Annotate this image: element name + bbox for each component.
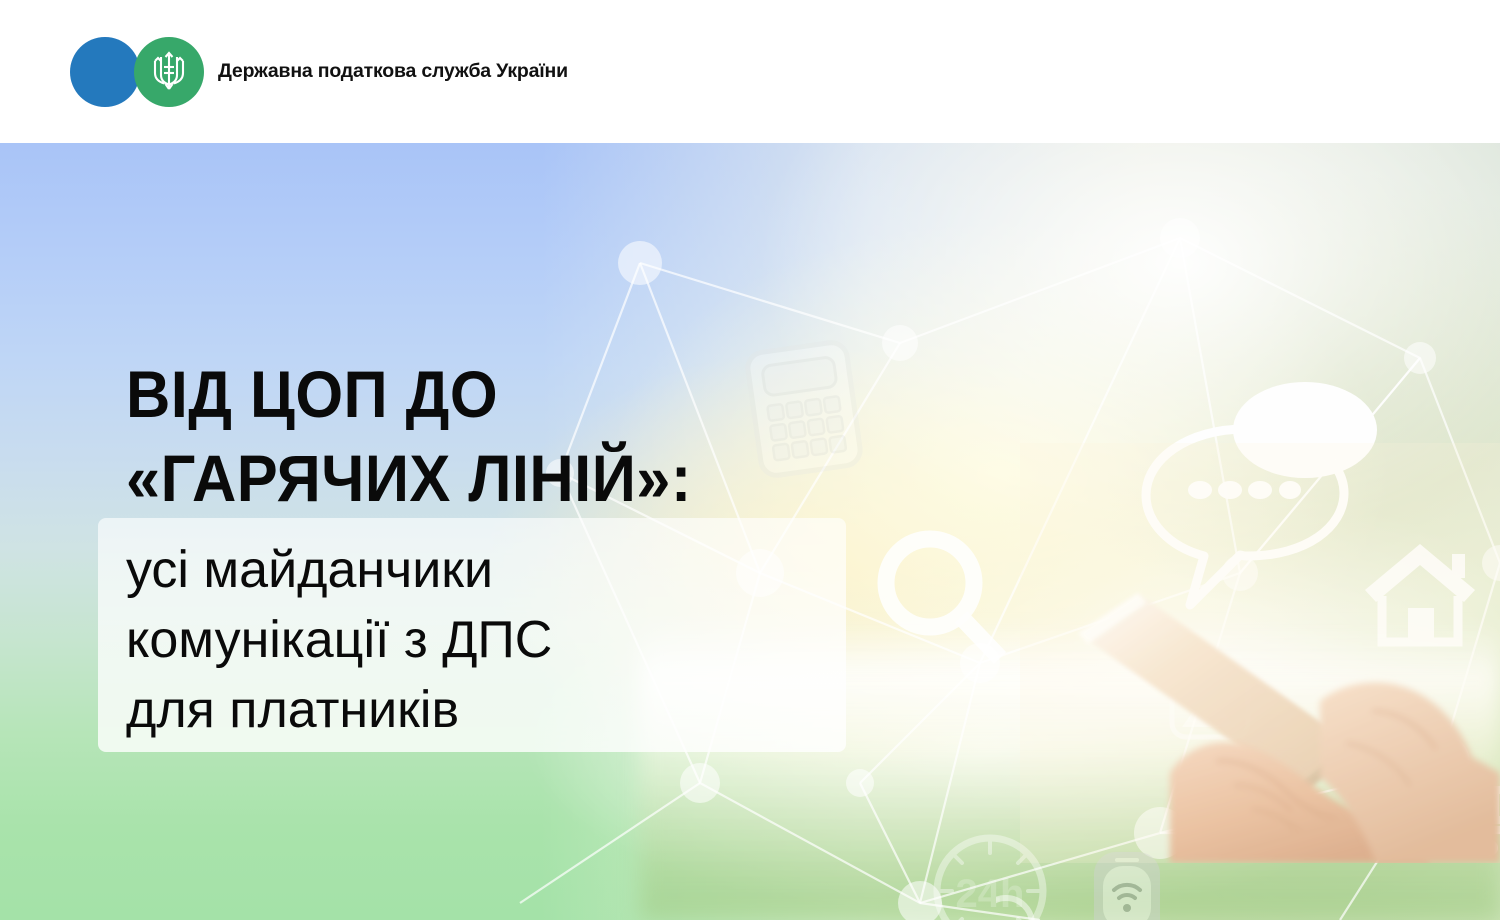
logo-marks — [70, 37, 204, 107]
page-header: Державна податкова служба України — [0, 0, 1500, 143]
hand-holding-smartphone — [1020, 443, 1500, 863]
badge-edge-icon — [996, 878, 1056, 920]
logo-blue-circle — [70, 37, 140, 107]
banner-stage: 24h — [0, 0, 1500, 920]
calculator-icon — [739, 336, 868, 482]
dps-logo[interactable]: Державна податкова служба України — [70, 37, 568, 107]
search-icon — [868, 525, 1018, 680]
ukraine-trident-icon — [134, 37, 204, 107]
banner-subtitle: усі майданчики комунікації з ДПС для пла… — [126, 535, 846, 745]
logo-org-name: Державна податкова служба України — [218, 59, 568, 85]
banner-headline: ВІД ЦОП ДО «ГАРЯЧИХ ЛІНІЙ»: — [126, 352, 692, 520]
